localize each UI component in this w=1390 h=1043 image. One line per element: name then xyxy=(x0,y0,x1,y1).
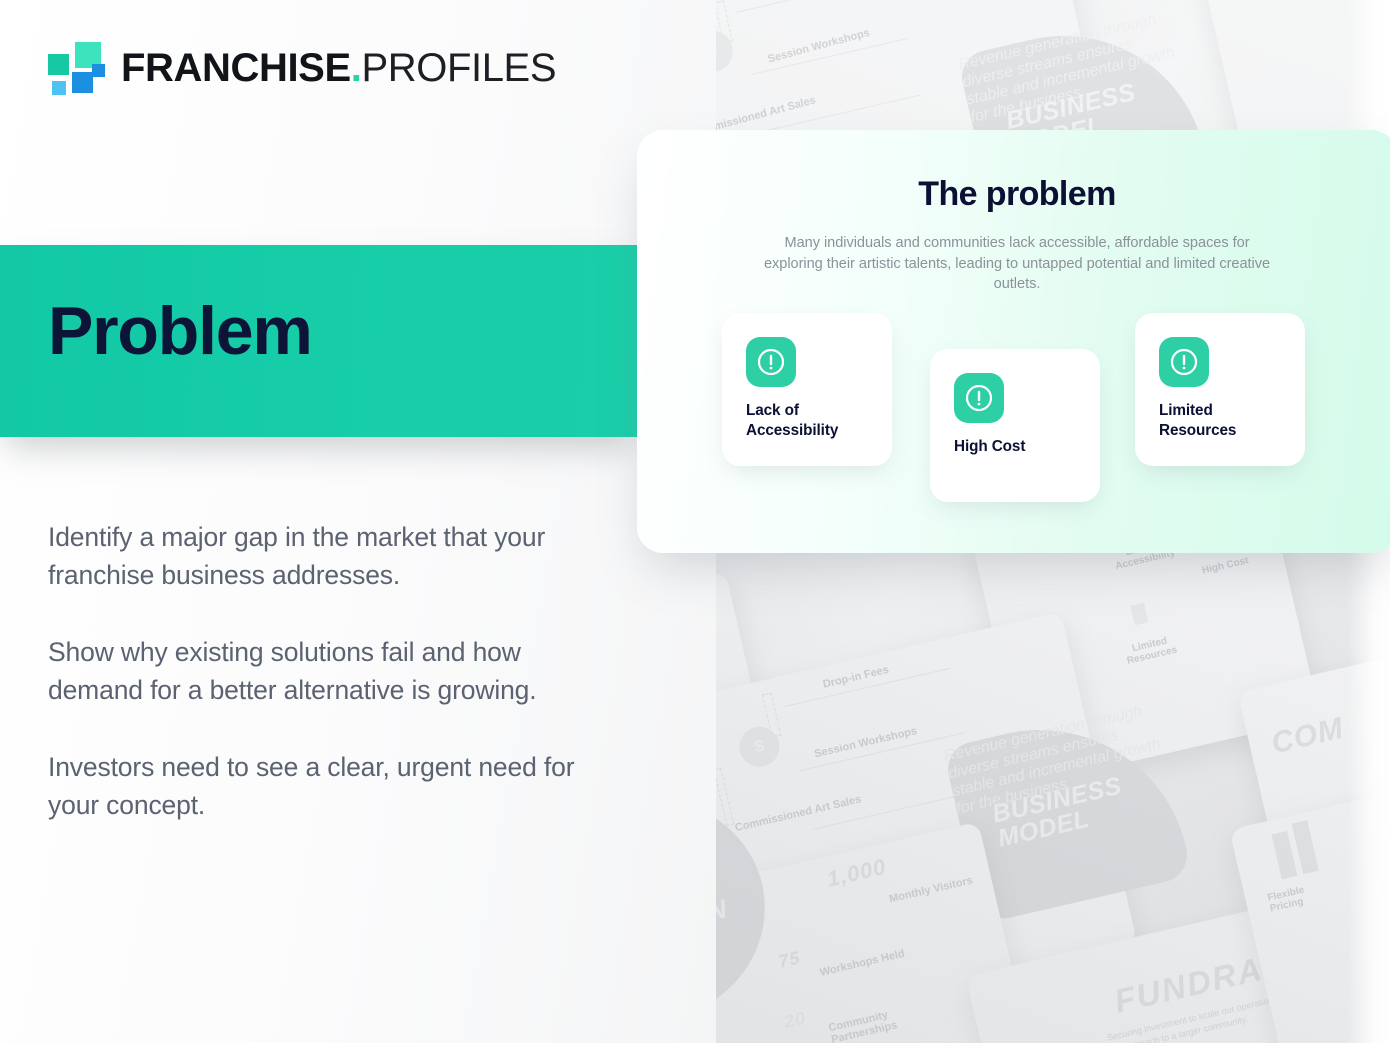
problem-tile-lack-of-accessibility[interactable]: Lack of Accessibility xyxy=(722,313,892,466)
overlay-title: The problem xyxy=(637,175,1390,214)
bg-label: Community Partnerships xyxy=(828,1007,902,1043)
bg-label: Workshops Held xyxy=(819,948,906,979)
problem-tile-limited-resources[interactable]: Limited Resources xyxy=(1135,313,1305,466)
brand-name-dot: . xyxy=(351,46,362,90)
problem-tile-label: Lack of Accessibility xyxy=(746,401,878,441)
description-paragraph: Investors need to see a clear, urgent ne… xyxy=(48,748,618,825)
problem-tile-high-cost[interactable]: High Cost xyxy=(930,349,1100,502)
bg-metric: 75 xyxy=(776,947,802,972)
brand-name-light: PROFILES xyxy=(361,46,556,90)
bg-label: Drop-in Fees xyxy=(822,664,890,691)
alert-circle-icon xyxy=(1159,337,1209,387)
problem-tile-label: Limited Resources xyxy=(1159,401,1291,441)
bg-metric: 1,000 xyxy=(825,854,889,893)
bg-bigword: ON xyxy=(715,893,730,932)
bg-label: High Cost xyxy=(1201,555,1249,576)
squares-logo-icon xyxy=(48,42,105,94)
bg-label: Session Workshops xyxy=(767,27,871,66)
bg-label: Flexible Pricing xyxy=(1267,881,1325,915)
section-banner: Problem xyxy=(0,245,637,437)
bg-label: Monthly Visitors xyxy=(888,875,974,906)
alert-circle-icon xyxy=(954,373,1004,423)
bg-bigword: COM xyxy=(1268,712,1347,762)
brand-wordmark: FRANCHISE.PROFILES xyxy=(121,48,556,88)
description-paragraph: Show why existing solutions fail and how… xyxy=(48,633,618,710)
overlay-subtitle: Many individuals and communities lack ac… xyxy=(762,233,1272,295)
slide-canvas: Drop-in Fees $ Session Workshops Commiss… xyxy=(0,0,1390,1043)
bg-label: Commissioned Art Sales xyxy=(734,793,863,834)
bg-metric: 20 xyxy=(782,1008,808,1033)
bg-label: Limited Resources xyxy=(1109,631,1192,670)
brand-name-bold: FRANCHISE xyxy=(121,46,351,90)
problem-preview-card: The problem Many individuals and communi… xyxy=(637,130,1390,553)
description-paragraph: Identify a major gap in the market that … xyxy=(48,518,618,595)
page-title: Problem xyxy=(48,297,312,365)
bg-label: Professional Artists xyxy=(1381,867,1390,902)
brand-logo[interactable]: FRANCHISE.PROFILES xyxy=(48,42,556,94)
alert-circle-icon xyxy=(746,337,796,387)
description-block: Identify a major gap in the market that … xyxy=(48,518,618,825)
problem-tile-label: High Cost xyxy=(954,437,1086,457)
